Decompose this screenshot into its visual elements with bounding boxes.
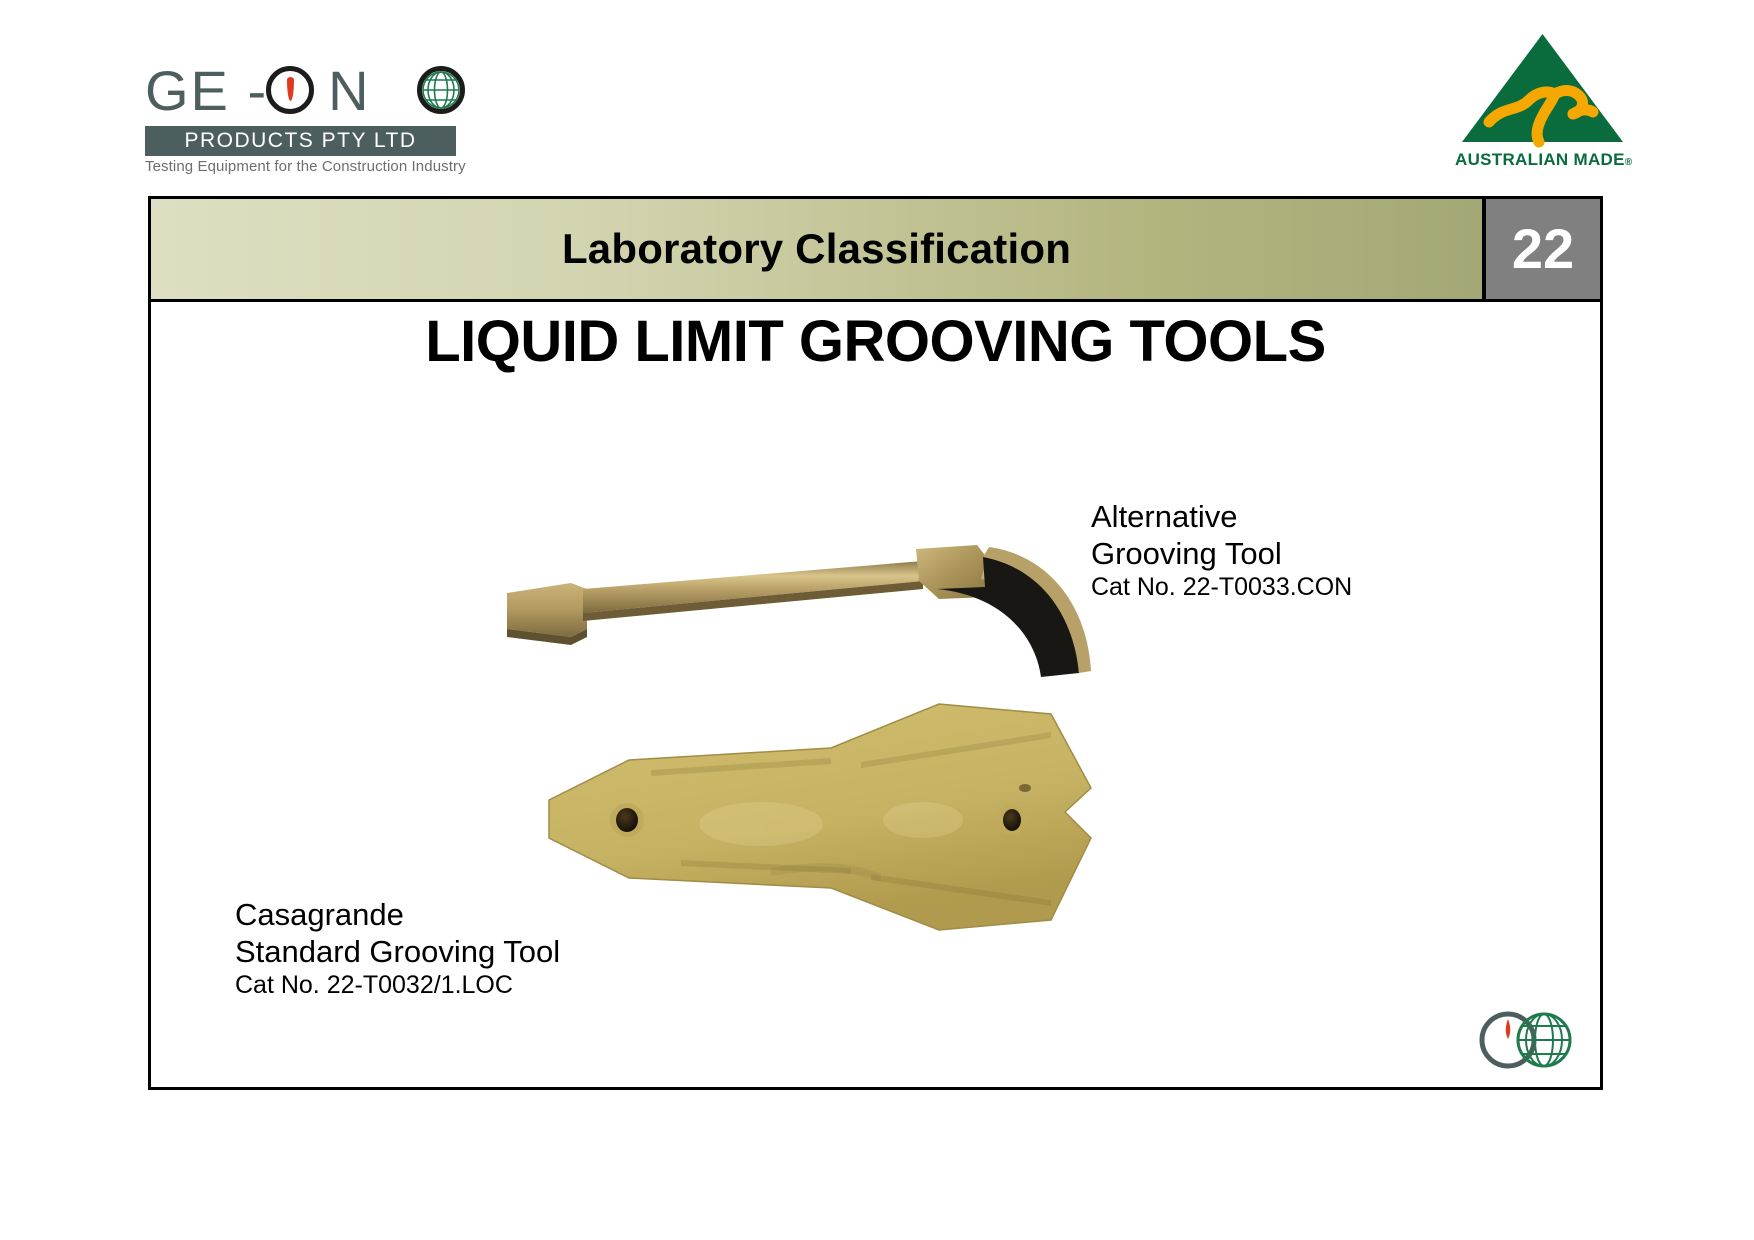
geocon-wordmark: GE -C N: [145, 60, 475, 122]
gauge-needle-icon: [287, 77, 294, 101]
slide-header-band: Laboratory Classification 22: [151, 199, 1600, 302]
australian-made-text: AUSTRALIAN MADE: [1455, 150, 1625, 169]
brand-tagline: Testing Equipment for the Construction I…: [145, 158, 485, 175]
products-bar: PRODUCTS PTY LTD: [145, 126, 456, 156]
slide-title: LIQUID LIMIT GROOVING TOOLS: [151, 308, 1600, 375]
geocon-wordmark-text: GE -C N: [145, 60, 371, 122]
registered-mark: ®: [1625, 157, 1633, 168]
caption-cat-no: Cat No. 22-T0032/1.LOC: [235, 970, 560, 1001]
australian-made-label: AUSTRALIAN MADE®: [1455, 150, 1630, 170]
slide-frame: Laboratory Classification 22 LIQUID LIMI…: [148, 196, 1603, 1090]
page-number-badge: 22: [1482, 199, 1600, 299]
gauge-icon: [266, 66, 314, 114]
caption-line-2: Grooving Tool: [1091, 535, 1352, 572]
casagrande-grooving-tool-image: [531, 692, 1101, 942]
caption-cat-no: Cat No. 22-T0033.CON: [1091, 572, 1352, 603]
slide-header-title: Laboratory Classification: [562, 225, 1071, 273]
alternative-grooving-tool-image: [491, 537, 1091, 687]
geocon-watermark-icon: [1474, 1009, 1578, 1071]
caption-casagrande-grooving-tool: Casagrande Standard Grooving Tool Cat No…: [235, 896, 560, 1001]
globe-icon: [417, 66, 465, 114]
brand-logo: GE -C N PRODUCTS PTY LTD Testing Equipme: [145, 60, 485, 180]
australian-made-logo: AUSTRALIAN MADE®: [1455, 28, 1630, 178]
slide-header-title-bar: Laboratory Classification: [151, 199, 1482, 299]
slide-body: LIQUID LIMIT GROOVING TOOLS: [151, 302, 1600, 1087]
page-number: 22: [1512, 221, 1574, 277]
caption-line-1: Alternative: [1091, 498, 1352, 535]
caption-line-2: Standard Grooving Tool: [235, 933, 560, 970]
caption-alternative-grooving-tool: Alternative Grooving Tool Cat No. 22-T00…: [1091, 498, 1352, 603]
caption-line-1: Casagrande: [235, 896, 560, 933]
products-bar-label: PRODUCTS PTY LTD: [145, 126, 456, 156]
australian-made-triangle-icon: [1455, 28, 1630, 148]
